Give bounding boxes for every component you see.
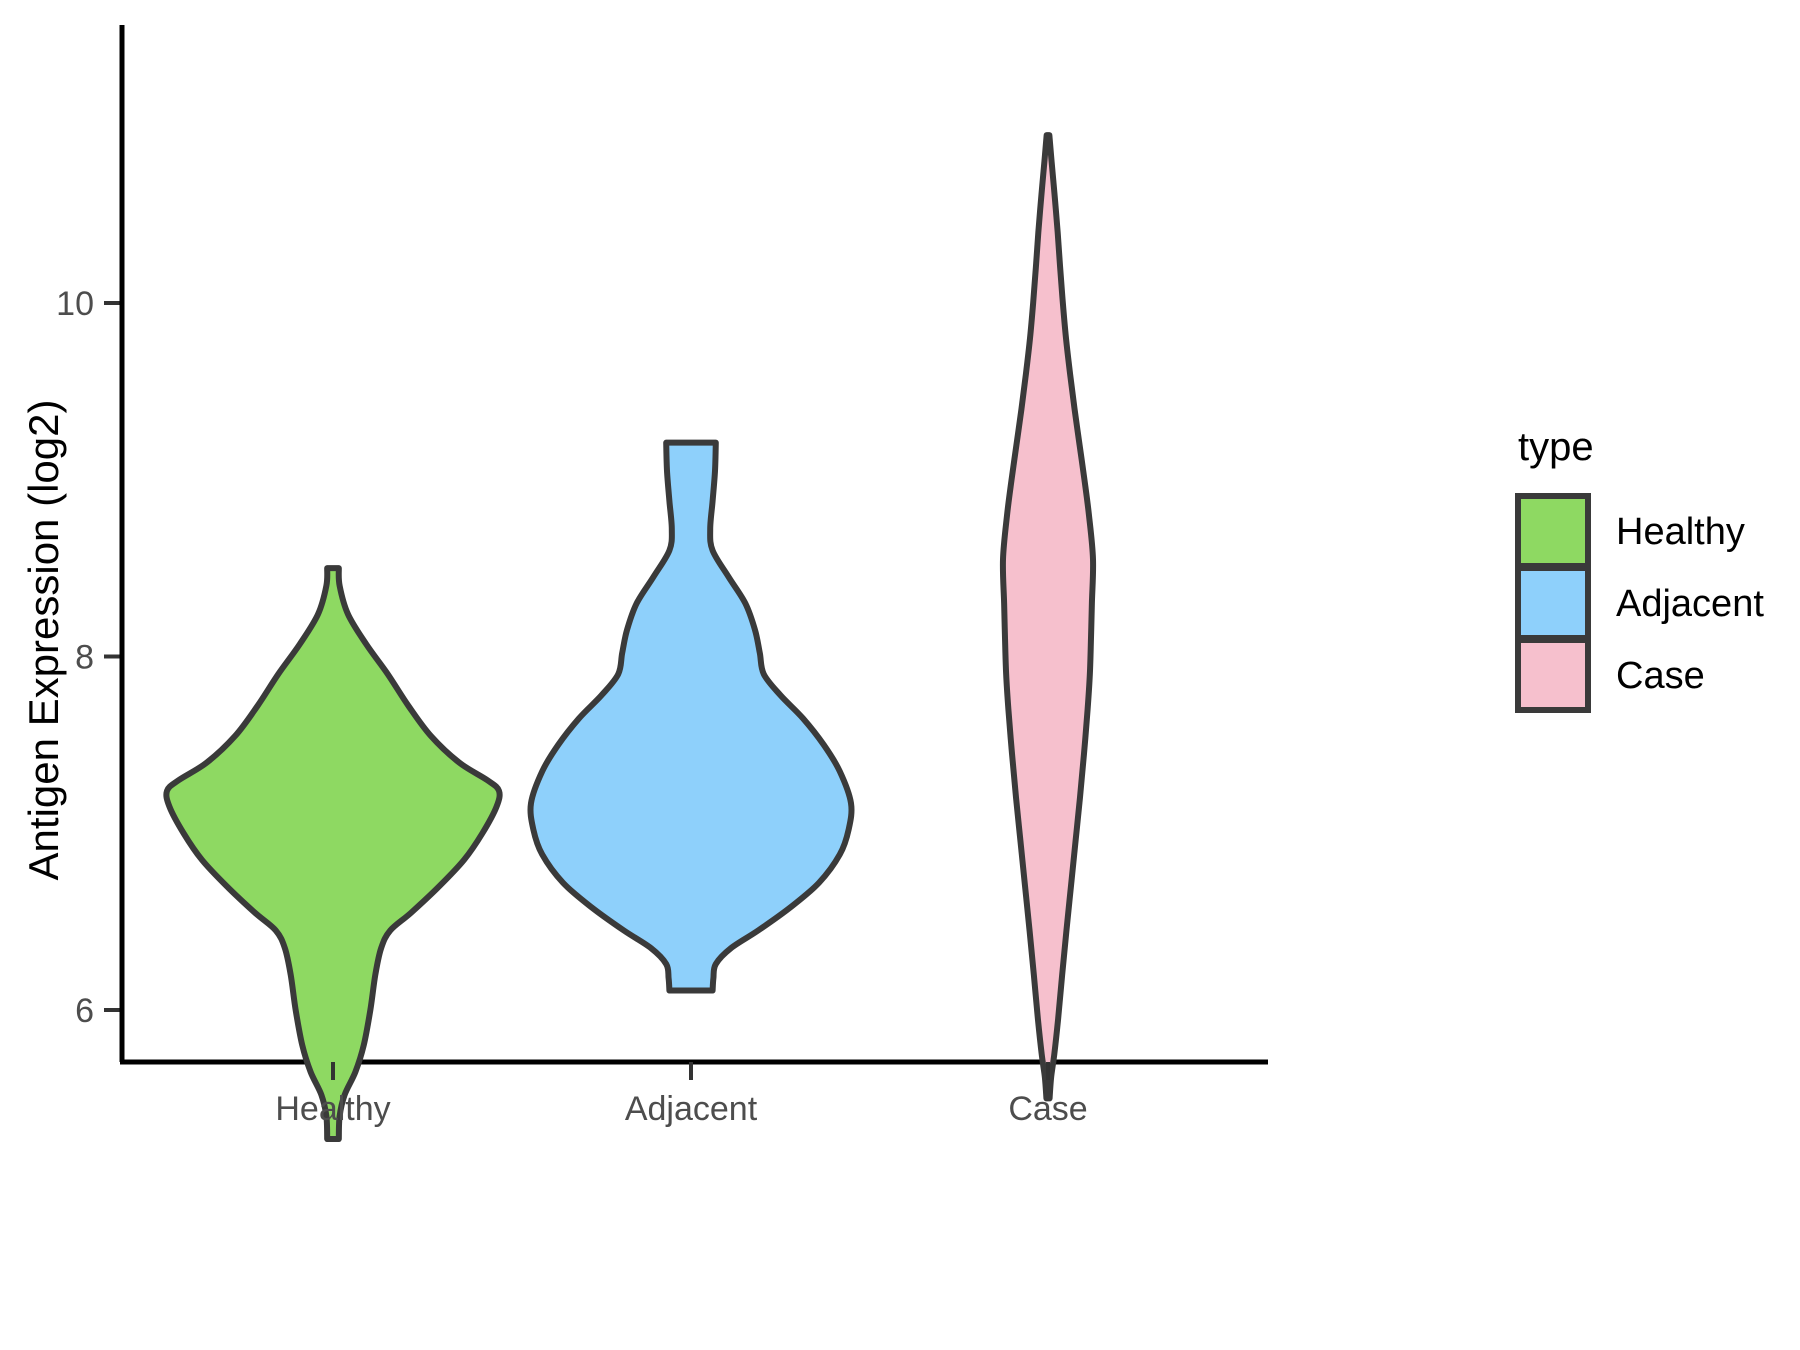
- y-axis-title: Antigen Expression (log2): [20, 400, 67, 881]
- legend-swatch-healthy[interactable]: [1518, 496, 1588, 566]
- legend-swatch-case[interactable]: [1518, 640, 1588, 710]
- legend-label-adjacent: Adjacent: [1616, 583, 1764, 625]
- violin-plot-figure: Antigen Expression (log2) 1086 HealthyAd…: [0, 0, 1800, 1350]
- legend-swatch-adjacent[interactable]: [1518, 568, 1588, 638]
- x-tick-label-healthy: Healthy: [275, 1090, 390, 1128]
- legend-label-healthy: Healthy: [1616, 511, 1745, 553]
- x-tick-label-adjacent: Adjacent: [625, 1090, 758, 1128]
- y-tick-label: 8: [75, 639, 94, 677]
- x-tick-label-case: Case: [1008, 1090, 1087, 1128]
- y-tick-label: 6: [75, 992, 94, 1030]
- y-tick-label: 10: [56, 285, 94, 323]
- legend-title: type: [1518, 425, 1594, 469]
- legend-label-case: Case: [1616, 655, 1705, 697]
- chart-canvas: Antigen Expression (log2) 1086 HealthyAd…: [0, 0, 1800, 1350]
